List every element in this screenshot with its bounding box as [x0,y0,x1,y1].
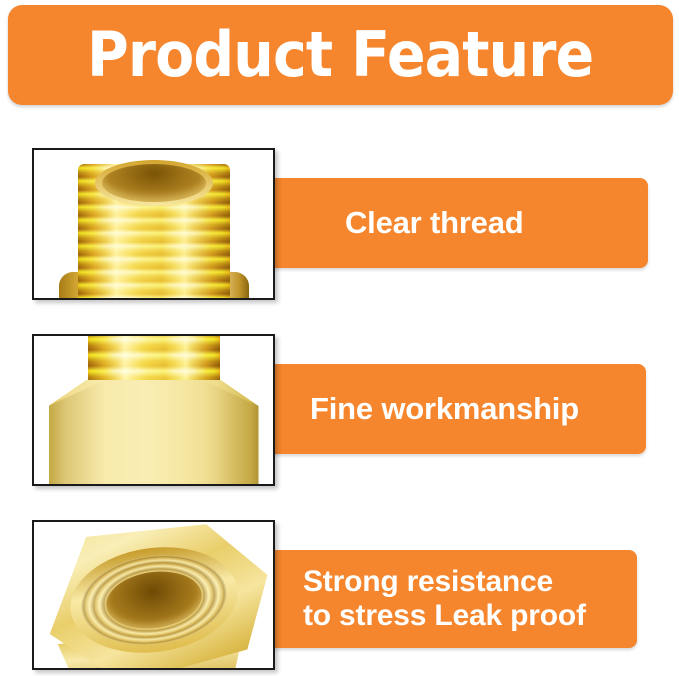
brass-hex-nut-image [34,336,273,484]
feature-label-text: Clear thread [345,206,524,241]
feature-photo-card [32,334,275,486]
hex-left-facet [49,380,105,484]
feature-label-bar: Clear thread [250,178,648,268]
feature-label-text: Fine workmanship [310,392,579,427]
brass-hex-bore-image [34,522,273,668]
feature-row: Strong resistance to stress Leak proof [0,512,679,676]
feature-photo-card [32,520,275,670]
header-banner: Product Feature [8,5,673,105]
feature-label-bar: Strong resistance to stress Leak proof [250,550,637,648]
nipple-bore-hole [102,164,206,202]
feature-photo-card [32,148,275,300]
hex-right-facet [203,380,259,484]
page-title: Product Feature [87,24,593,86]
brass-nipple-image [34,150,273,298]
feature-label-bar: Fine workmanship [250,364,646,454]
feature-row: Clear thread [0,140,679,312]
feature-row: Fine workmanship [0,326,679,498]
feature-label-text: Strong resistance to stress Leak proof [303,565,586,632]
